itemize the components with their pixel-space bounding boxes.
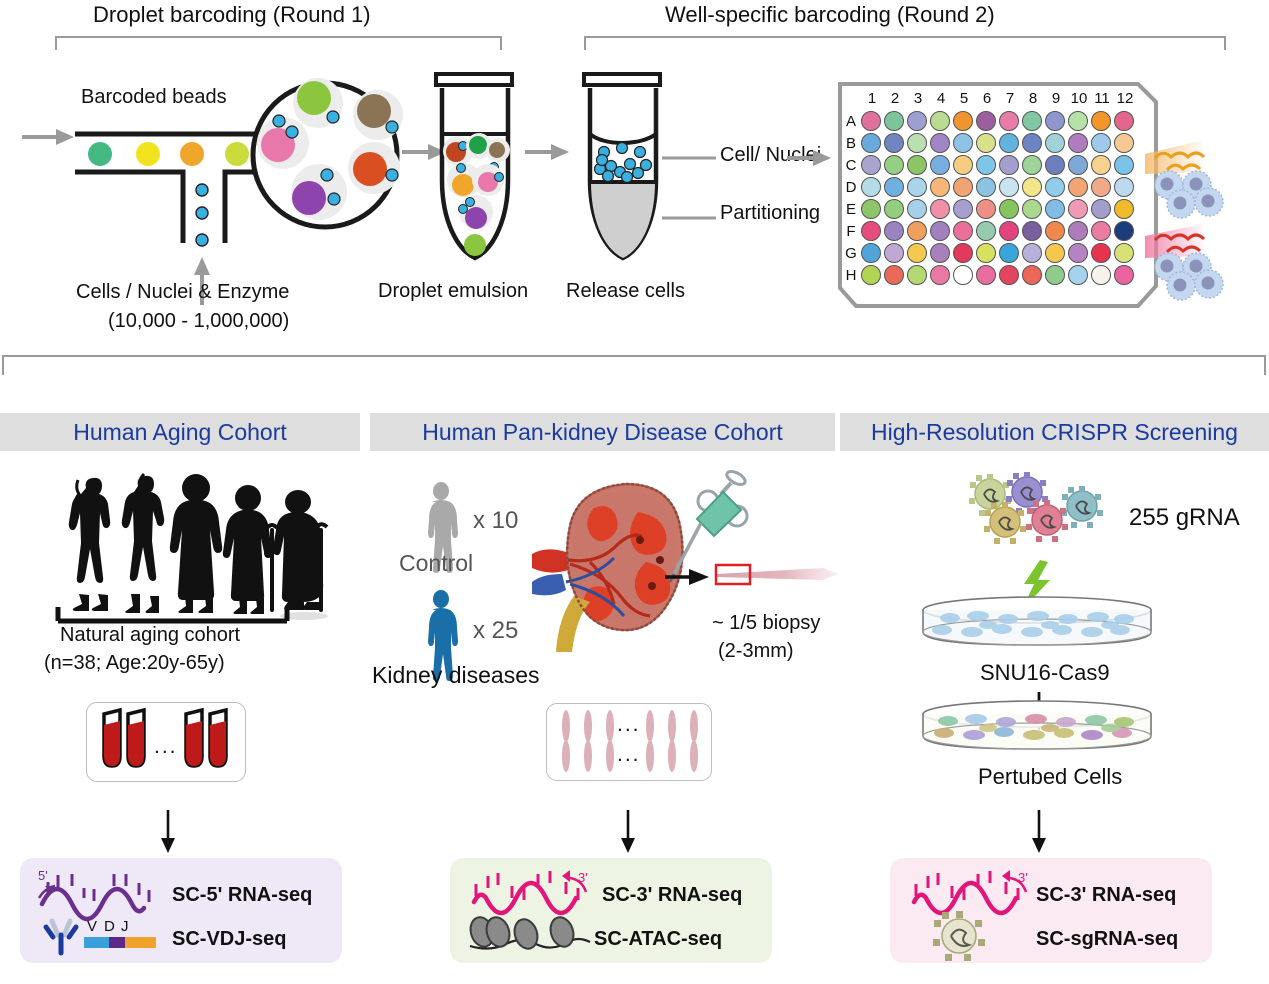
dish2-label: Pertubed Cells: [978, 764, 1122, 790]
plate-well-E4: [930, 199, 950, 219]
plate-col-12: 12: [1113, 90, 1137, 107]
cells-count-range-label: (10,000 - 1,000,000): [108, 310, 289, 333]
plate-well-A6: [976, 111, 996, 131]
biopsy-line1: ~ 1/5 biopsy: [712, 612, 820, 635]
kidney-down-arrow: [618, 810, 638, 854]
blood-tube-4: [210, 710, 226, 766]
plate-well-A12: [1114, 111, 1134, 131]
panel-header-kidney: Human Pan-kidney Disease Cohort: [370, 413, 835, 451]
plate-well-G10: [1068, 243, 1088, 263]
bead-1: [88, 142, 112, 166]
plate-row-C: C: [843, 157, 859, 174]
plate-well-F5: [953, 221, 973, 241]
plate-well-G1: [861, 243, 881, 263]
plate-well-E7: [999, 199, 1019, 219]
plate-well-H1: [861, 265, 881, 285]
plate-well-A4: [930, 111, 950, 131]
plate-well-B10: [1068, 133, 1088, 153]
plate-well-B3: [907, 133, 927, 153]
plate-row-B: B: [843, 135, 859, 152]
plate-well-F12: [1114, 221, 1134, 241]
plate-well-E2: [884, 199, 904, 219]
plate-well-H8: [1022, 265, 1042, 285]
svg-text:3': 3': [1018, 870, 1028, 885]
plate-col-6: 6: [975, 90, 999, 107]
plate-well-E1: [861, 199, 881, 219]
blood-tube-1: [104, 710, 120, 766]
partitioning-label: Partitioning: [720, 202, 820, 225]
release-cells-label: Release cells: [566, 280, 685, 303]
plate-well-D2: [884, 177, 904, 197]
plate-well-G12: [1114, 243, 1134, 263]
panel-title-crispr: High-Resolution CRISPR Screening: [871, 419, 1238, 446]
plate-well-A9: [1045, 111, 1065, 131]
plate-col-7: 7: [998, 90, 1022, 107]
plate-well-D11: [1091, 177, 1111, 197]
plate-well-B11: [1091, 133, 1111, 153]
plate-col-11: 11: [1090, 90, 1114, 107]
plate-well-H10: [1068, 265, 1088, 285]
plate-well-H2: [884, 265, 904, 285]
control-label: Control: [399, 550, 473, 577]
plate-well-D3: [907, 177, 927, 197]
kidney-assay-2-label: SC-ATAC-seq: [594, 928, 722, 951]
plate-well-H9: [1045, 265, 1065, 285]
plate-well-G6: [976, 243, 996, 263]
plate-well-A5: [953, 111, 973, 131]
bead-2: [136, 142, 160, 166]
droplet-emulsion-label: Droplet emulsion: [378, 280, 528, 303]
plate-well-H12: [1114, 265, 1134, 285]
arrow-to-plate: [785, 146, 835, 170]
plate-well-C9: [1045, 155, 1065, 175]
inlet-cell-3: [196, 234, 208, 246]
plate-well-E11: [1091, 199, 1111, 219]
control-count-label: x 10: [473, 507, 518, 535]
grna-virus-particles: [965, 472, 1115, 552]
aging-sample-ellipsis: ...: [154, 735, 178, 759]
inlet-cell-2: [196, 207, 208, 219]
plate-well-H7: [999, 265, 1019, 285]
biopsy-tissue-core: [713, 556, 841, 594]
plate-well-B9: [1045, 133, 1065, 153]
barcoded-beads-label: Barcoded beads: [81, 86, 227, 109]
plate-well-F11: [1091, 221, 1111, 241]
droplet-emulsion-tube: [430, 72, 520, 268]
plate-row-F: F: [843, 223, 859, 240]
plate-col-3: 3: [906, 90, 930, 107]
vdj-v-label: V: [87, 918, 97, 935]
plate-well-E3: [907, 199, 927, 219]
plate-row-D: D: [843, 179, 859, 196]
blood-tube-2: [128, 710, 144, 766]
plate-well-A8: [1022, 111, 1042, 131]
plate-well-B4: [930, 133, 950, 153]
round1-title: Droplet barcoding (Round 1): [93, 2, 371, 28]
petri-dish-perturbed: [920, 700, 1155, 762]
plate-well-A7: [999, 111, 1019, 131]
plate-well-G3: [907, 243, 927, 263]
plate-well-G7: [999, 243, 1019, 263]
beam-orange: [1145, 140, 1203, 174]
panel-title-kidney: Human Pan-kidney Disease Cohort: [422, 419, 783, 446]
plate-well-C1: [861, 155, 881, 175]
plate-well-B7: [999, 133, 1019, 153]
disease-label: Kidney diseases: [372, 662, 540, 689]
plate-row-H: H: [843, 267, 859, 284]
disease-person-icon: [420, 590, 462, 662]
dish1-label: SNU16-Cas9: [980, 660, 1110, 686]
petri-dish-snu16: [920, 596, 1155, 658]
round2-bracket: [584, 36, 1226, 50]
bead-3: [180, 142, 204, 166]
bead-4: [225, 142, 249, 166]
plate-output-clusters: [1145, 140, 1269, 305]
crispr-down-arrow: [1029, 810, 1049, 854]
aging-cohort-line1: Natural aging cohort: [60, 624, 240, 647]
plate-row-G: G: [843, 245, 859, 262]
plate-col-10: 10: [1067, 90, 1091, 107]
rna-wave-3prime-icon-crispr: 3': [908, 868, 1033, 916]
panel-title-aging: Human Aging Cohort: [73, 419, 287, 446]
plate-well-D7: [999, 177, 1019, 197]
plate-well-H11: [1091, 265, 1111, 285]
plate-well-F8: [1022, 221, 1042, 241]
vdj-d-label: D: [104, 918, 115, 935]
plate-well-D9: [1045, 177, 1065, 197]
plate-well-C12: [1114, 155, 1134, 175]
plate-well-D8: [1022, 177, 1042, 197]
plate-well-G5: [953, 243, 973, 263]
control-person-icon: [420, 482, 462, 554]
plate-well-D12: [1114, 177, 1134, 197]
kidney-assay-1-label: SC-3' RNA-seq: [602, 884, 742, 907]
aging-cohort-line2: (n=38; Age:20y-65y): [44, 652, 225, 675]
plate-well-C2: [884, 155, 904, 175]
plate-well-H5: [953, 265, 973, 285]
rna-wave-3prime-icon-kidney: 3': [468, 868, 593, 916]
plate-well-G8: [1022, 243, 1042, 263]
panel-header-aging: Human Aging Cohort: [0, 413, 360, 451]
plate-well-G11: [1091, 243, 1111, 263]
svg-text:3': 3': [578, 870, 588, 885]
plate-well-F1: [861, 221, 881, 241]
plate-col-1: 1: [860, 90, 884, 107]
vdj-j-label: J: [121, 918, 129, 935]
plate-well-B6: [976, 133, 996, 153]
plate-well-F2: [884, 221, 904, 241]
cells-nuclei-enzyme-label: Cells / Nuclei & Enzyme: [76, 281, 289, 304]
plate-well-C6: [976, 155, 996, 175]
plate-well-E10: [1068, 199, 1088, 219]
rna-wave-5prime-icon: 5': [36, 868, 161, 916]
biopsy-line2: (2-3mm): [718, 640, 794, 663]
grna-particle-3: [1061, 486, 1103, 528]
plate-well-F3: [907, 221, 927, 241]
plate-well-H6: [976, 265, 996, 285]
aging-assay-2-label: SC-VDJ-seq: [172, 928, 286, 951]
crispr-assay-1-label: SC-3' RNA-seq: [1036, 884, 1176, 907]
plate-well-E6: [976, 199, 996, 219]
plate-well-G2: [884, 243, 904, 263]
inlet-cell-1: [196, 184, 208, 196]
beam-pink: [1145, 224, 1203, 258]
aging-assay-1-label: SC-5' RNA-seq: [172, 884, 312, 907]
blood-tube-3: [186, 710, 202, 766]
plate-well-C5: [953, 155, 973, 175]
plate-well-C8: [1022, 155, 1042, 175]
plate-row-A: A: [843, 113, 859, 130]
plate-well-E12: [1114, 199, 1134, 219]
plate-well-B8: [1022, 133, 1042, 153]
lower-section-bracket: [2, 355, 1266, 375]
plate-well-D5: [953, 177, 973, 197]
disease-count-label: x 25: [473, 617, 518, 645]
plate-well-C11: [1091, 155, 1111, 175]
round1-bracket: [55, 36, 502, 50]
plate-col-9: 9: [1044, 90, 1068, 107]
plate-well-F4: [930, 221, 950, 241]
virus-particle-icon: [928, 910, 990, 962]
plate-row-E: E: [843, 201, 859, 218]
plate-well-D4: [930, 177, 950, 197]
nucleosome-icon: [468, 912, 593, 956]
release-cells-tube: [578, 72, 668, 268]
kidney-sample-ellipsis-1: ...: [617, 713, 641, 737]
plate-well-A10: [1068, 111, 1088, 131]
panel-header-crispr: High-Resolution CRISPR Screening: [840, 413, 1269, 451]
kidney-sample-ellipsis-2: ...: [617, 743, 641, 767]
plate-well-C7: [999, 155, 1019, 175]
aging-cohort-bracket: [55, 605, 295, 623]
plate-well-C10: [1068, 155, 1088, 175]
plate-well-D10: [1068, 177, 1088, 197]
plate-well-F10: [1068, 221, 1088, 241]
plate-well-C3: [907, 155, 927, 175]
plate-well-C4: [930, 155, 950, 175]
aging-down-arrow: [158, 810, 178, 854]
plate-well-H3: [907, 265, 927, 285]
plate-well-B12: [1114, 133, 1134, 153]
plate-well-A3: [907, 111, 927, 131]
plate-well-A11: [1091, 111, 1111, 131]
plate-well-B5: [953, 133, 973, 153]
plate-well-E5: [953, 199, 973, 219]
inlet-arrow: [22, 129, 74, 145]
plate-well-D1: [861, 177, 881, 197]
biopsy-arrow: [663, 566, 711, 588]
plate-well-G9: [1045, 243, 1065, 263]
plate-col-5: 5: [952, 90, 976, 107]
grna-count-label: 255 gRNA: [1129, 504, 1240, 532]
plate-col-4: 4: [929, 90, 953, 107]
plate-well-F9: [1045, 221, 1065, 241]
plate-well-E8: [1022, 199, 1042, 219]
microfluidics-diagram: [0, 95, 400, 310]
svg-text:5': 5': [38, 868, 48, 883]
plate-col-2: 2: [883, 90, 907, 107]
plate-well-A2: [884, 111, 904, 131]
plate-well-B1: [861, 133, 881, 153]
plate-well-F6: [976, 221, 996, 241]
plate-well-B2: [884, 133, 904, 153]
antibody-vdj-icon: V D J: [40, 915, 160, 957]
plate-well-D6: [976, 177, 996, 197]
plate-well-F7: [999, 221, 1019, 241]
plate-col-8: 8: [1021, 90, 1045, 107]
plate-well-A1: [861, 111, 881, 131]
crispr-assay-2-label: SC-sgRNA-seq: [1036, 928, 1178, 951]
aging-silhouettes: [48, 472, 328, 622]
arrow-to-release: [523, 140, 571, 164]
round2-title: Well-specific barcoding (Round 2): [665, 2, 995, 28]
plate-well-H4: [930, 265, 950, 285]
plate-well-E9: [1045, 199, 1065, 219]
plate-well-G4: [930, 243, 950, 263]
